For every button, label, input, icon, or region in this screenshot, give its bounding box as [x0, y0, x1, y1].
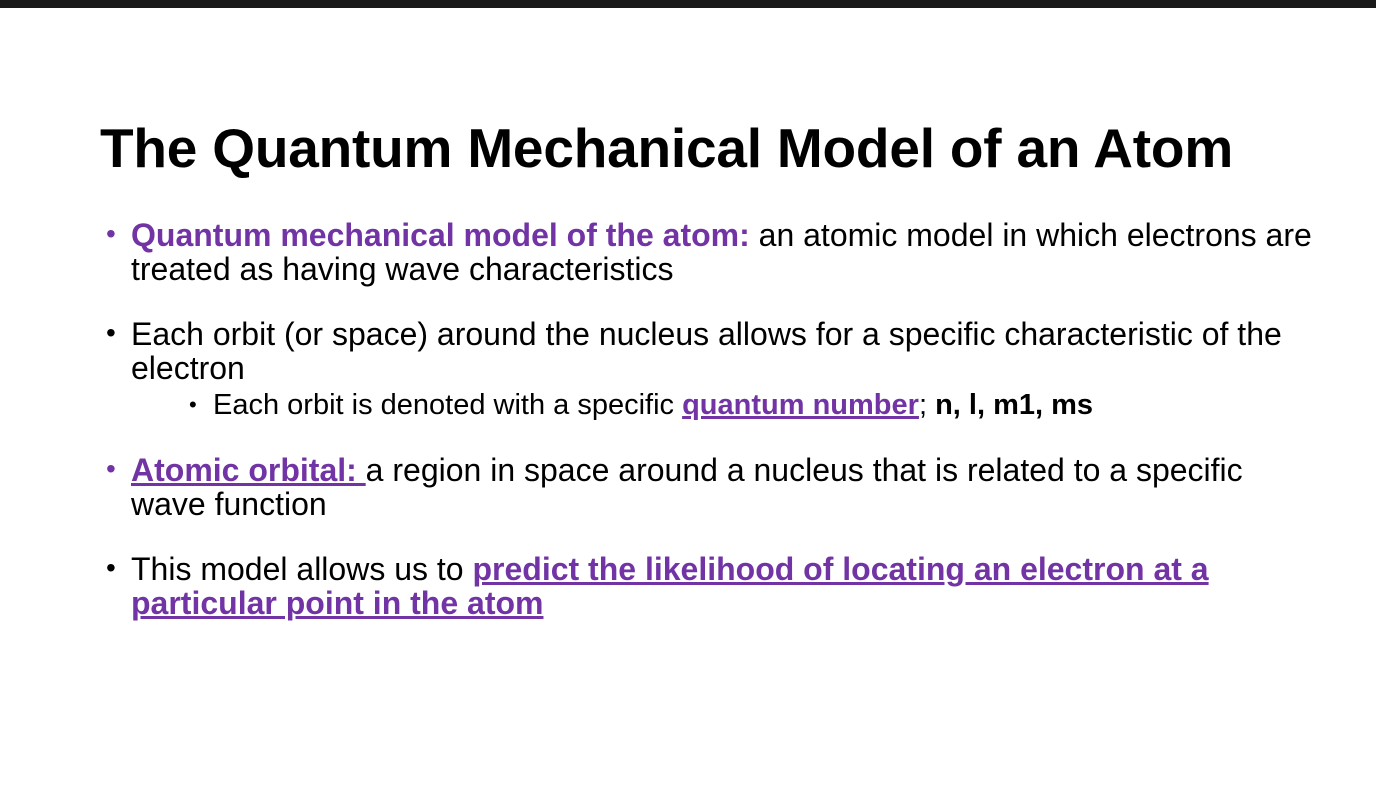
bullet-this-model: This model allows us to predict the like… [104, 552, 1314, 620]
link-atomic-orbital[interactable]: Atomic orbital: [131, 452, 366, 488]
subbullet-quantum-number: Each orbit is denoted with a specific qu… [185, 389, 1314, 422]
link-quantum-number[interactable]: quantum number [682, 389, 919, 421]
bullet-text-before: This model allows us to [131, 551, 472, 587]
bullet-quantum-mechanical-model: Quantum mechanical model of the atom: an… [104, 218, 1314, 286]
subbullet-text-before: Each orbit is denoted with a specific [213, 389, 682, 421]
page-title: The Quantum Mechanical Model of an Atom [100, 120, 1300, 178]
subbullet-separator: ; [919, 389, 935, 421]
top-edge-bar [0, 0, 1376, 8]
bullet-body-text: Each orbit (or space) around the nucleus… [131, 316, 1282, 386]
subbullet-quantum-number-symbols: n, l, m1, ms [935, 389, 1093, 421]
slide: The Quantum Mechanical Model of an Atom … [0, 0, 1376, 786]
bullet-atomic-orbital: Atomic orbital: a region in space around… [104, 453, 1314, 521]
slide-body: Quantum mechanical model of the atom: an… [104, 218, 1314, 620]
bullet-each-orbit: Each orbit (or space) around the nucleus… [104, 317, 1314, 422]
bullet-lead-term: Quantum mechanical model of the atom: [131, 217, 750, 253]
